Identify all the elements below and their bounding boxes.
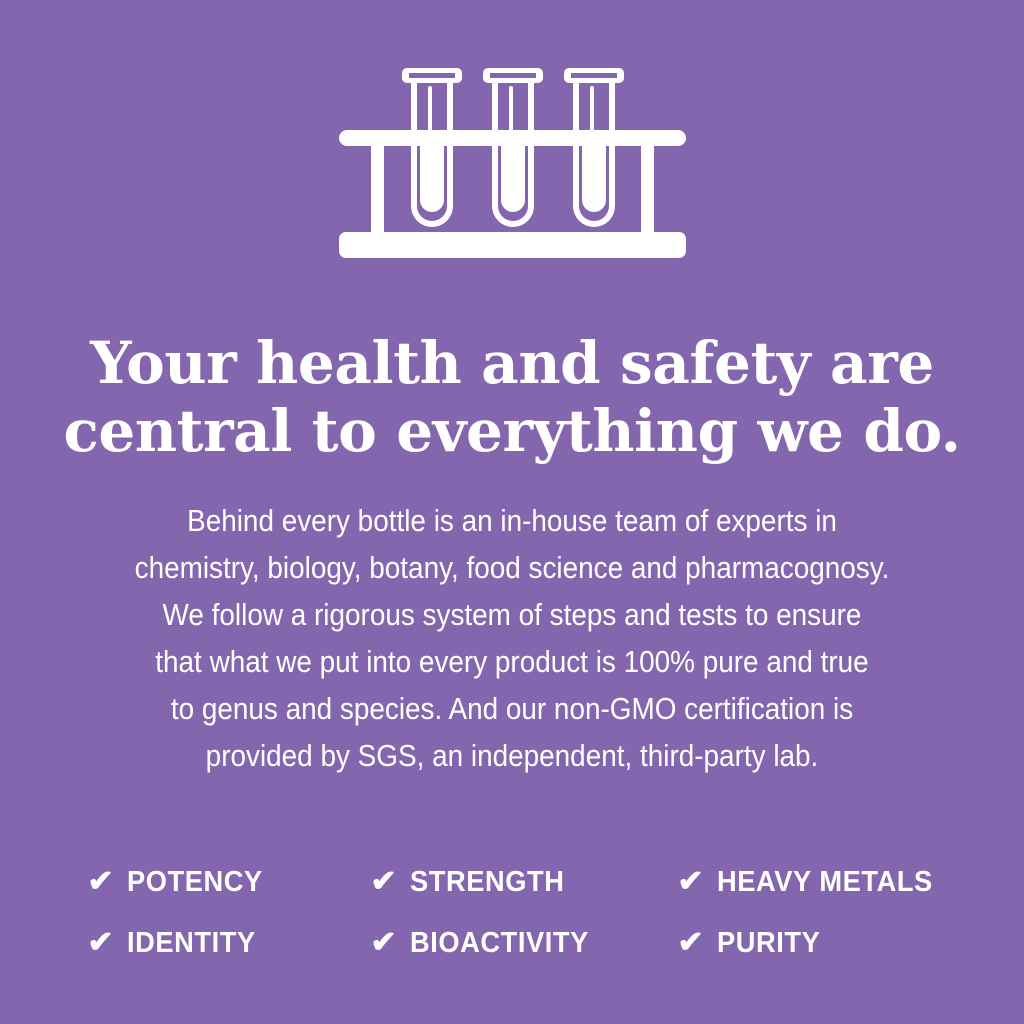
check-icon: ✔ <box>87 928 113 958</box>
paragraph-line-5: to genus and species. And our non-GMO ce… <box>107 685 917 732</box>
check-icon: ✔ <box>370 867 396 897</box>
paragraph-line-2: chemistry, biology, botany, food science… <box>107 544 917 591</box>
paragraph-line-1: Behind every bottle is an in-house team … <box>107 497 917 544</box>
checklist-item-label: POTENCY <box>127 866 263 899</box>
checklist-item-purity: ✔ PURITY <box>678 927 948 960</box>
checklist-item-label: IDENTITY <box>127 927 256 960</box>
heading-line-2: central to everything we do. <box>62 397 962 465</box>
checklist-item-identity: ✔ IDENTITY <box>88 927 371 960</box>
check-icon: ✔ <box>677 928 703 958</box>
checklist-item-label: HEAVY METALS <box>717 866 933 899</box>
heading-line-1: Your health and safety are <box>62 329 962 397</box>
test-tube-rack-icon <box>0 60 1024 270</box>
body-paragraph: Behind every bottle is an in-house team … <box>107 497 917 779</box>
checklist-item-heavy-metals: ✔ HEAVY METALS <box>678 866 948 899</box>
checklist-item-strength: ✔ STRENGTH <box>371 866 678 899</box>
check-icon: ✔ <box>677 867 703 897</box>
checklist-item-bioactivity: ✔ BIOACTIVITY <box>371 927 678 960</box>
checklist-item-label: STRENGTH <box>410 866 564 899</box>
checklist-item-label: BIOACTIVITY <box>410 927 589 960</box>
check-icon: ✔ <box>87 867 113 897</box>
paragraph-line-4: that what we put into every product is 1… <box>107 638 917 685</box>
testing-checklist: ✔ POTENCY ✔ STRENGTH ✔ HEAVY METALS ✔ ID… <box>88 852 948 974</box>
checklist-item-label: PURITY <box>717 927 820 960</box>
page-title: Your health and safety are central to ev… <box>62 329 962 465</box>
paragraph-line-6: provided by SGS, an independent, third-p… <box>107 732 917 779</box>
paragraph-line-3: We follow a rigorous system of steps and… <box>107 591 917 638</box>
checklist-item-potency: ✔ POTENCY <box>88 866 371 899</box>
check-icon: ✔ <box>370 928 396 958</box>
promo-card: Your health and safety are central to ev… <box>0 0 1024 1024</box>
